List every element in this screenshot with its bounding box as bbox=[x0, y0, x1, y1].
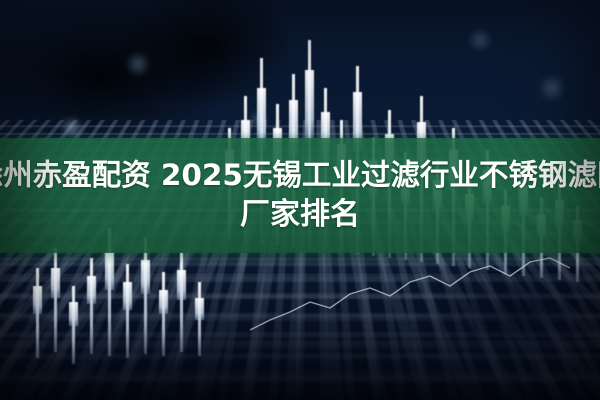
image-canvas: 徐州赤盈配资 2025无锡工业过滤行业不锈钢滤网 厂家排名 bbox=[0, 0, 600, 400]
headline-line-1: 徐州赤盈配资 2025无锡工业过滤行业不锈钢滤网 bbox=[0, 159, 600, 192]
banner-headline: 徐州赤盈配资 2025无锡工业过滤行业不锈钢滤网 厂家排名 bbox=[0, 138, 600, 253]
headline-line-2: 厂家排名 bbox=[240, 198, 360, 232]
